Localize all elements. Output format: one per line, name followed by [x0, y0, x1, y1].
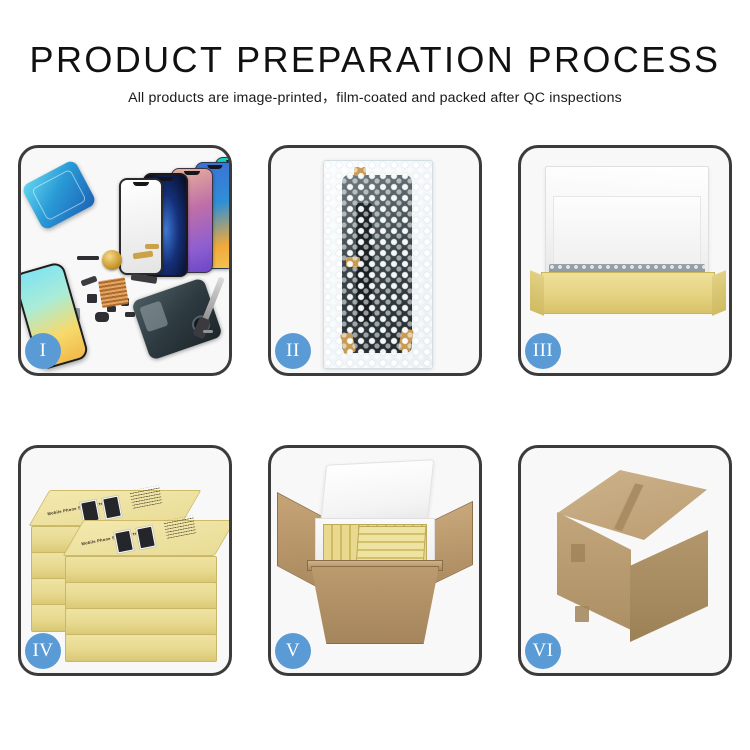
chip-array-icon	[98, 277, 129, 308]
carton-body	[311, 566, 439, 644]
step-badge-1: I	[25, 333, 61, 369]
tape-patch-lower-icon	[575, 606, 589, 622]
yellow-box-tray	[541, 272, 715, 314]
header: PRODUCT PREPARATION PROCESS All products…	[0, 0, 750, 107]
step-badge-6: VI	[525, 633, 561, 669]
phone-back-housing-icon	[131, 277, 223, 360]
page-title: PRODUCT PREPARATION PROCESS	[0, 40, 750, 80]
stacked-box	[65, 608, 217, 636]
step-badge-2: II	[275, 333, 311, 369]
tempered-glass-icon	[119, 178, 163, 275]
bubble-wrap-bag	[323, 160, 433, 369]
stacked-box	[65, 634, 217, 662]
process-step-panel-5: V	[268, 445, 482, 676]
screw-icon	[203, 330, 213, 333]
process-step-panel-6: VI	[518, 445, 732, 676]
speaker-icon	[95, 312, 109, 322]
part-strip-icon	[77, 256, 99, 260]
process-step-panel-4: Mobile Phone Spare Parts Mobile Phone Sp…	[18, 445, 232, 676]
process-step-grid: I II	[18, 145, 732, 676]
process-step-panel-2: II	[268, 145, 482, 376]
page-subtitle: All products are image-printed，film-coat…	[0, 89, 750, 107]
foam-lid	[320, 459, 435, 527]
bubble-texture-overlay	[324, 161, 432, 368]
gold-contact-icon	[145, 244, 159, 249]
camera-module-icon	[87, 294, 97, 303]
process-step-panel-3: III	[518, 145, 732, 376]
step-badge-4: IV	[25, 633, 61, 669]
small-connector-icon	[80, 275, 97, 286]
gold-coil-icon	[102, 250, 122, 270]
vibrator-icon	[125, 312, 135, 317]
tape-patch-upper-icon	[571, 544, 585, 562]
sealed-carton	[535, 470, 721, 650]
carton-right-face	[630, 530, 708, 642]
white-box-lid-face	[553, 196, 701, 270]
product-preparation-process-page: PRODUCT PREPARATION PROCESS All products…	[0, 0, 750, 750]
stacked-box	[65, 556, 217, 584]
step-badge-3: III	[525, 333, 561, 369]
step-badge-5: V	[275, 633, 311, 669]
box-stack: Mobile Phone Spare Parts Mobile Phone Sp…	[31, 464, 227, 664]
process-step-panel-1: I	[18, 145, 232, 376]
stacked-box	[65, 582, 217, 610]
